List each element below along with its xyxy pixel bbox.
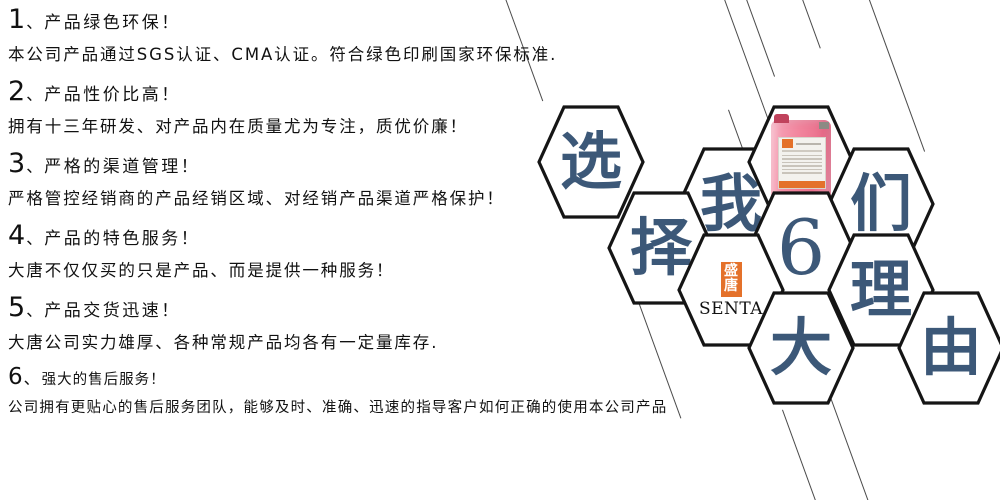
feature-heading: 4 、 产品的特色服务！: [8, 222, 708, 249]
feature-body: 大唐公司实力雄厚、各种常规产品均各有一定量库存.: [8, 329, 708, 353]
feature-title: 产品绿色环保！: [44, 15, 181, 32]
hexagon-da[interactable]: 大: [746, 290, 856, 406]
feature-title: 产品性价比高！: [44, 87, 181, 104]
feature-separator: 、: [26, 159, 42, 175]
feature-separator: 、: [26, 87, 42, 103]
feature-number: 4: [8, 222, 25, 249]
feature-heading: 1 、 产品绿色环保！: [8, 6, 708, 33]
feature-heading: 5 、 产品交货迅速！: [8, 294, 708, 321]
feature-separator: 、: [26, 231, 42, 247]
feature-body: 公司拥有更贴心的售后服务团队，能够及时、准确、迅速的指导客户如何正确的使用本公司…: [8, 396, 708, 417]
feature-item-1: 1 、 产品绿色环保！ 本公司产品通过SGS认证、CMA认证。符合绿色印刷国家环…: [8, 6, 708, 65]
feature-item-6: 6 、 强大的售后服务！ 公司拥有更贴心的售后服务团队，能够及时、准确、迅速的指…: [8, 366, 708, 417]
feature-heading: 2 、 产品性价比高！: [8, 78, 708, 105]
feature-title: 严格的渠道管理！: [44, 159, 200, 176]
feature-number: 3: [8, 150, 25, 177]
feature-number: 2: [8, 78, 25, 105]
jerry-can-label: [778, 137, 826, 189]
diagonal-line: [800, 0, 821, 49]
feature-heading: 6 、 强大的售后服务！: [8, 366, 708, 389]
brand-seal-icon: 盛 唐: [721, 262, 742, 297]
hexagon-label: 大: [746, 290, 856, 406]
feature-title: 强大的售后服务！: [42, 373, 166, 388]
label-rule: [782, 150, 822, 152]
feature-title: 产品交货迅速！: [44, 303, 181, 320]
feature-item-5: 5 、 产品交货迅速！ 大唐公司实力雄厚、各种常规产品均各有一定量库存.: [8, 294, 708, 353]
feature-number: 6: [8, 366, 23, 389]
feature-number: 1: [8, 6, 25, 33]
diagonal-line: [782, 410, 817, 500]
feature-body: 本公司产品通过SGS认证、CMA认证。符合绿色印刷国家环保标准.: [8, 41, 708, 65]
brand-seal-char-1: 盛: [721, 264, 742, 279]
feature-body: 大唐不仅仅买的只是产品、而是提供一种服务！: [8, 257, 708, 281]
feature-item-4: 4 、 产品的特色服务！ 大唐不仅仅买的只是产品、而是提供一种服务！: [8, 222, 708, 281]
hexagon-label: 由: [896, 290, 1000, 406]
label-header: [779, 138, 825, 149]
promo-banner: 1 、 产品绿色环保！ 本公司产品通过SGS认证、CMA认证。符合绿色印刷国家环…: [0, 0, 1000, 500]
brand-seal-char-2: 唐: [721, 279, 742, 294]
label-text-lines: [779, 153, 825, 178]
feature-title: 产品的特色服务！: [44, 231, 200, 248]
feature-separator: 、: [26, 303, 42, 319]
jerry-can-cap: [774, 114, 789, 123]
feature-separator: 、: [24, 371, 40, 387]
jerry-can-badge: [819, 122, 829, 129]
diagonal-line: [866, 0, 925, 152]
label-footer-bar: [779, 181, 825, 188]
feature-separator: 、: [26, 15, 42, 31]
feature-number: 5: [8, 294, 25, 321]
hexagon-you[interactable]: 由: [896, 290, 1000, 406]
